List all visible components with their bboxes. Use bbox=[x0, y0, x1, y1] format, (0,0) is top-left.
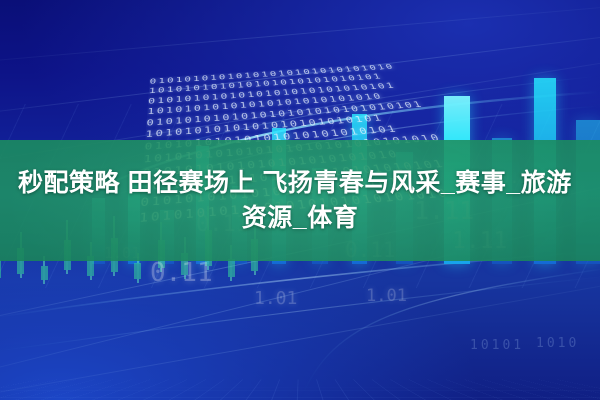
candlestick bbox=[129, 263, 147, 288]
candlestick bbox=[0, 260, 6, 288]
bottom-glyph: 10101 bbox=[470, 338, 524, 353]
title-line-1: 秒配策略 田径赛场上 飞扬青春与风采_赛事_旅游 bbox=[10, 166, 590, 201]
page-title: 秒配策略 田径赛场上 飞扬青春与风采_赛事_旅游 资源_体育 bbox=[10, 166, 590, 235]
candlestick bbox=[222, 259, 240, 288]
title-line-2: 资源_体育 bbox=[10, 201, 590, 236]
banner-image: 0101010101010101010101010101010101010101… bbox=[0, 0, 600, 400]
title-band: 秒配策略 田径赛场上 飞扬青春与风采_赛事_旅游 资源_体育 bbox=[0, 140, 600, 261]
bottom-glyph: 1010 bbox=[536, 336, 579, 351]
candlestick bbox=[35, 266, 53, 288]
